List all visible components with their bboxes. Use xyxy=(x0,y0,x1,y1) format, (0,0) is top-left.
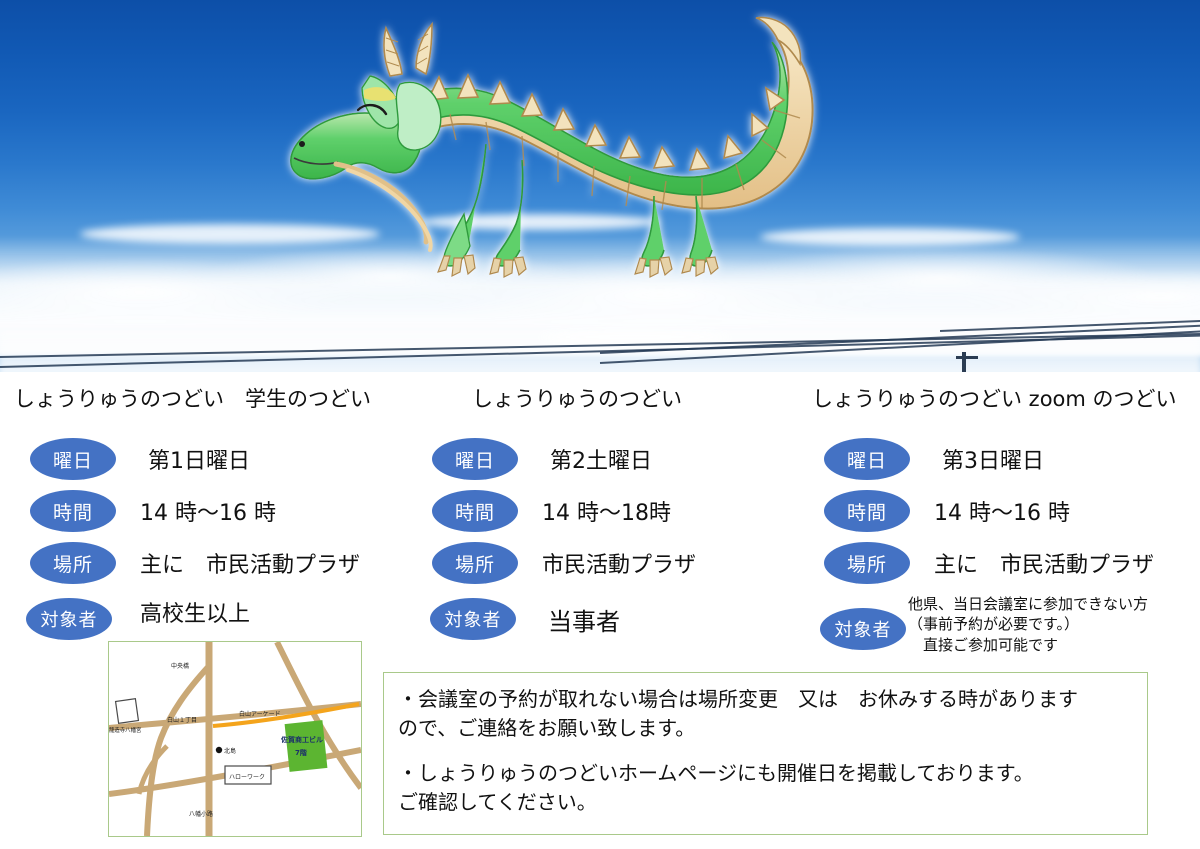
weekday-badge: 曜日 xyxy=(824,438,910,480)
notice-paragraph-1: ・会議室の予約が取れない場合は場所変更 又は お休みする時があります ので、ご連… xyxy=(398,685,1133,743)
time-value: 14 時～18時 xyxy=(542,495,671,527)
program-column-2: しょうりゅうのつどい xyxy=(472,388,682,411)
column-title: しょうりゅうのつどい xyxy=(472,388,682,411)
column-1-row-audience: 対象者 高校生以上 xyxy=(26,596,250,642)
column-3-row-time: 時間 14 時～16 時 xyxy=(824,490,1070,532)
place-value: 市民活動プラザ xyxy=(542,547,696,579)
map-label-hello-work: ハローワーク xyxy=(229,774,265,781)
time-badge: 時間 xyxy=(30,490,116,532)
column-title: しょうりゅうのつどい zoom のつどい xyxy=(812,388,1177,411)
column-3-row-weekday: 曜日 第3日曜日 xyxy=(824,438,1044,480)
column-3-row-audience: 対象者 他県、当日会議室に参加できない方 （事前予約が必要です。） 直接ご参加可… xyxy=(820,594,1186,655)
column-2-row-time: 時間 14 時～18時 xyxy=(432,490,671,532)
column-3-row-place: 場所 主に 市民活動プラザ xyxy=(824,542,1154,584)
access-map: 中央橋 龍造寺八幡宮 白山１丁目 白山アーケード 北島 ハローワーク 佐賀商工ビ… xyxy=(108,641,362,837)
map-label-kitajima: 北島 xyxy=(224,747,236,755)
notice-line: ・会議室の予約が取れない場合は場所変更 又は お休みする時があります xyxy=(398,687,1078,711)
weekday-value: 第2土曜日 xyxy=(550,443,652,475)
time-value: 14 時～16 時 xyxy=(140,495,276,527)
notice-paragraph-2: ・しょうりゅうのつどいホームページにも開催日を掲載しております。 ご確認してくだ… xyxy=(398,759,1133,817)
column-2-row-weekday: 曜日 第2土曜日 xyxy=(432,438,652,480)
column-1-row-place: 場所 主に 市民活動プラザ xyxy=(30,542,360,584)
column-1-row-weekday: 曜日 第1日曜日 xyxy=(30,438,250,480)
notice-line: ので、ご連絡をお願い致します。 xyxy=(398,716,695,740)
column-2-row-audience: 対象者 当事者 xyxy=(430,598,620,640)
hero-photo xyxy=(0,0,1200,372)
weekday-badge: 曜日 xyxy=(30,438,116,480)
map-label-shimokoji: 八幡小路 xyxy=(189,810,213,818)
utility-pole-arm xyxy=(956,356,978,359)
map-label-building: 佐賀商工ビル xyxy=(280,735,323,744)
place-value: 主に 市民活動プラザ xyxy=(140,547,360,579)
audience-badge: 対象者 xyxy=(26,598,112,640)
notice-box: ・会議室の予約が取れない場合は場所変更 又は お休みする時があります ので、ご連… xyxy=(383,672,1148,835)
place-badge: 場所 xyxy=(30,542,116,584)
program-column-1: しょうりゅうのつどい 学生のつどい xyxy=(14,388,371,411)
audience-badge: 対象者 xyxy=(820,608,906,650)
audience-value: 高校生以上 xyxy=(140,596,250,628)
time-value: 14 時～16 時 xyxy=(934,495,1070,527)
time-badge: 時間 xyxy=(432,490,518,532)
column-1-row-time: 時間 14 時～16 時 xyxy=(30,490,276,532)
audience-value: 他県、当日会議室に参加できない方 （事前予約が必要です。） 直接ご参加可能です xyxy=(908,594,1186,655)
place-badge: 場所 xyxy=(432,542,518,584)
weekday-value: 第3日曜日 xyxy=(942,443,1044,475)
weekday-value: 第1日曜日 xyxy=(148,443,250,475)
audience-badge: 対象者 xyxy=(430,598,516,640)
map-label-arcade: 白山アーケード xyxy=(239,710,281,718)
audience-value: 当事者 xyxy=(548,602,620,637)
place-badge: 場所 xyxy=(824,542,910,584)
column-2-row-place: 場所 市民活動プラザ xyxy=(432,542,696,584)
map-label-hachimangu: 龍造寺八幡宮 xyxy=(109,726,141,734)
column-title: しょうりゅうのつどい 学生のつどい xyxy=(14,388,371,411)
program-column-3: しょうりゅうのつどい zoom のつどい xyxy=(812,388,1177,411)
dragon-illustration xyxy=(250,18,950,288)
notice-line: ご確認してください。 xyxy=(398,790,597,814)
time-badge: 時間 xyxy=(824,490,910,532)
notice-line: ・しょうりゅうのつどいホームページにも開催日を掲載しております。 xyxy=(398,761,1034,785)
place-value: 主に 市民活動プラザ xyxy=(934,547,1154,579)
utility-pole xyxy=(962,352,966,372)
map-label-hakusan-1: 白山１丁目 xyxy=(167,716,197,724)
map-label-building-floor: 7階 xyxy=(295,748,307,757)
map-label-chuo-bashi: 中央橋 xyxy=(171,662,189,670)
weekday-badge: 曜日 xyxy=(432,438,518,480)
